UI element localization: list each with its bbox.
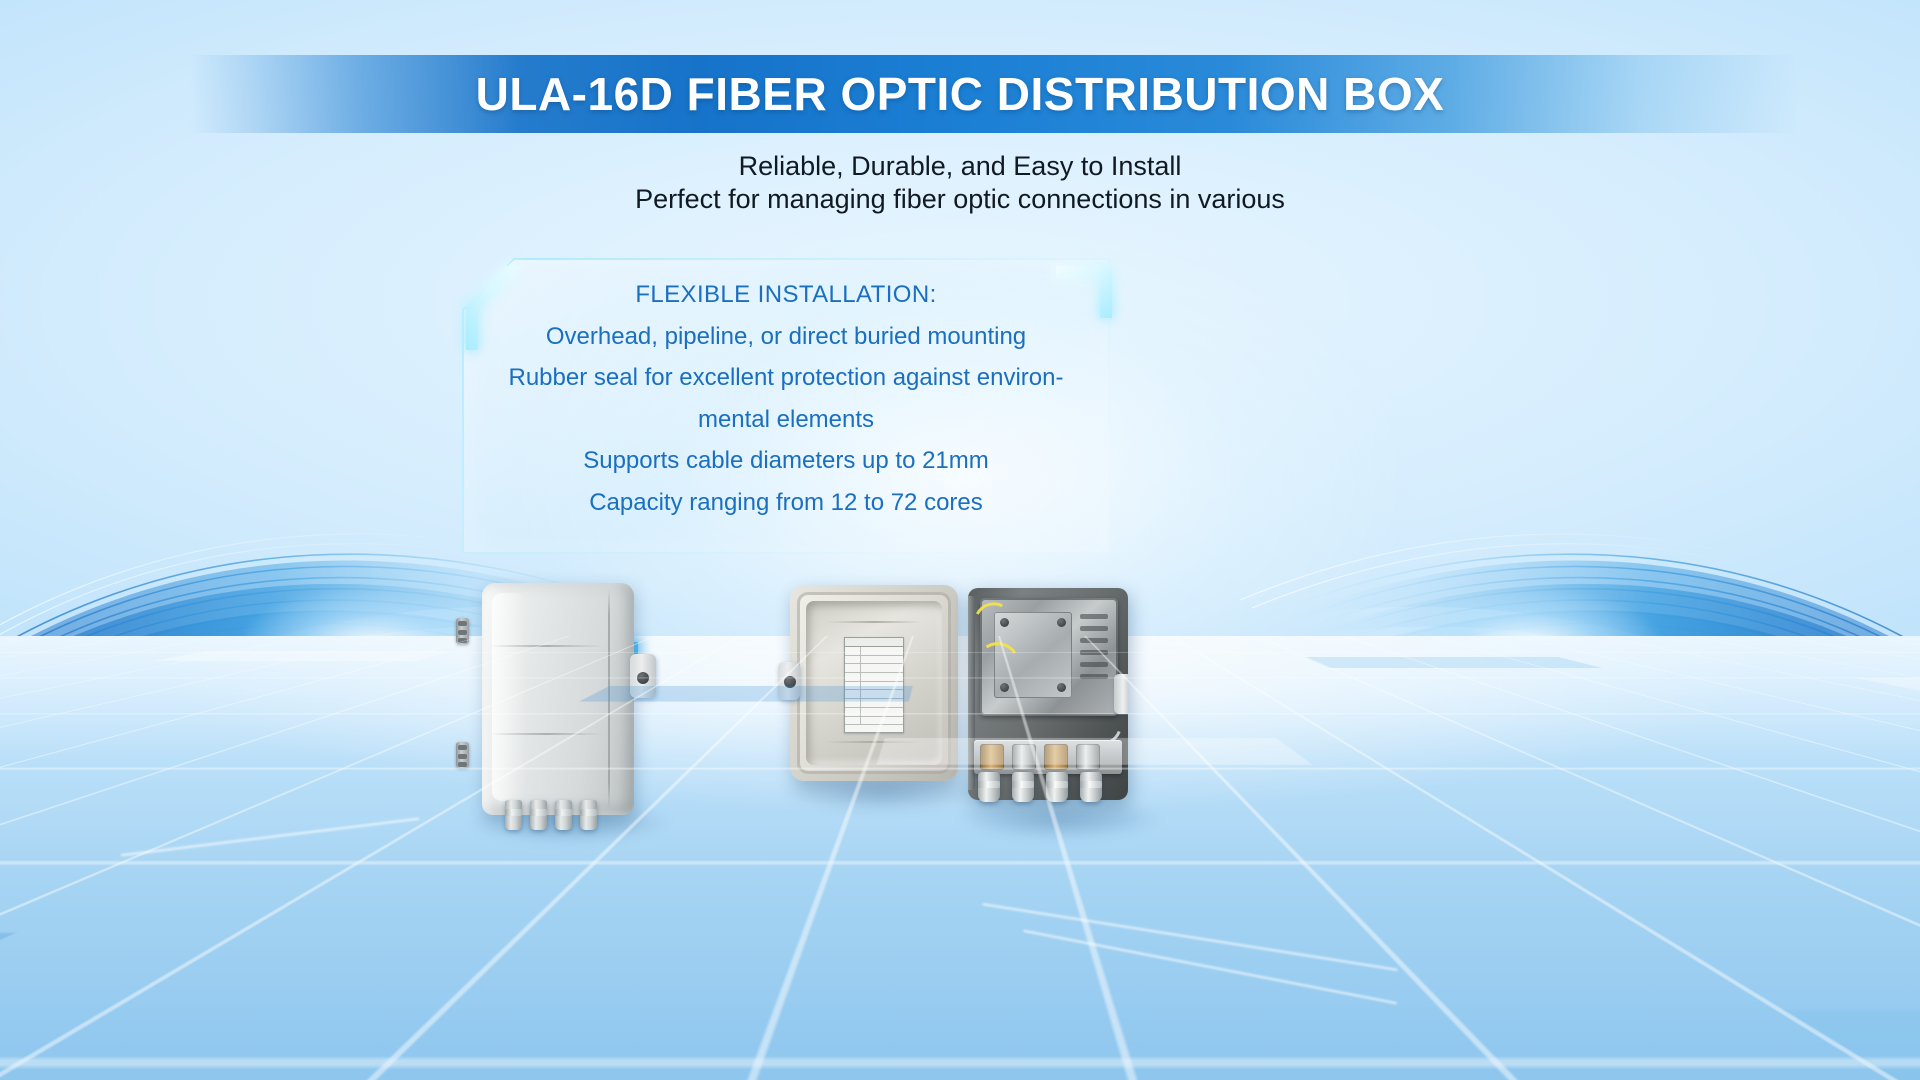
loaded-box-cable-gland-cap <box>1012 772 1034 802</box>
loaded-box-cable-gland-cap <box>1080 772 1102 802</box>
loaded-box-cable-gland-cap <box>978 772 1000 802</box>
loaded-box-gland-caps <box>968 588 1128 800</box>
loaded-box-shadow <box>960 798 1160 840</box>
poster-canvas: ULA-16D FIBER OPTIC DISTRIBUTION BOX Rel… <box>0 0 1920 1080</box>
product-image-loaded-box <box>0 0 1920 1080</box>
loaded-box-cable-gland-cap <box>1046 772 1068 802</box>
